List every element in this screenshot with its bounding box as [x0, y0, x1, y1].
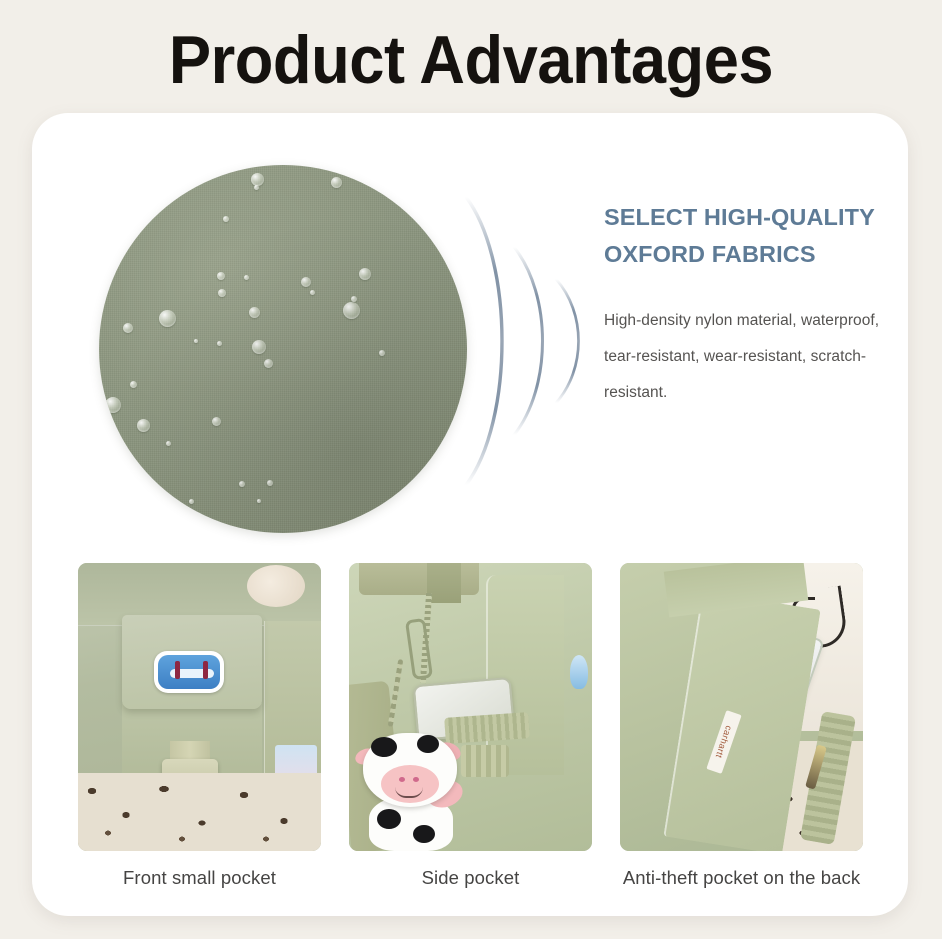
- product-photo-side-pocket[interactable]: [349, 563, 592, 851]
- photo-row: Front small pocket: [78, 563, 864, 889]
- water-droplet: [105, 397, 121, 413]
- webbing-loop: [461, 745, 509, 777]
- cow-spot: [377, 809, 401, 829]
- photo-caption: Side pocket: [349, 867, 592, 889]
- pin-wheel: [175, 661, 180, 679]
- water-droplet: [123, 323, 133, 333]
- water-droplet: [217, 341, 222, 346]
- skateboard-pin-icon: [154, 651, 224, 693]
- water-droplet: [252, 340, 266, 354]
- water-droplet: [267, 480, 273, 486]
- water-droplet: [249, 307, 260, 318]
- water-droplet: [251, 173, 264, 186]
- product-photo-anti-theft-pocket[interactable]: carhartt: [620, 563, 863, 851]
- water-droplet: [194, 339, 198, 343]
- photo-cell-side-pocket: Side pocket: [349, 563, 592, 889]
- water-droplet: [361, 169, 370, 178]
- water-droplet: [166, 441, 171, 446]
- hero-section: SELECT HIGH-QUALITY OXFORD FABRICS High-…: [32, 113, 908, 553]
- hero-body-copy: High-density nylon material, waterproof,…: [604, 303, 882, 411]
- page-title: Product Advantages: [33, 14, 909, 106]
- cow-spot: [371, 737, 397, 757]
- water-droplet: [137, 419, 150, 432]
- water-droplet: [244, 275, 249, 280]
- cow-spot: [413, 825, 435, 843]
- product-photo-front-small-pocket[interactable]: [78, 563, 321, 851]
- fabric-swatch-circle-image: [99, 165, 467, 533]
- pin-wheel: [203, 661, 208, 679]
- water-droplet: [217, 272, 225, 280]
- water-droplet: [359, 268, 371, 280]
- hero-text-block: SELECT HIGH-QUALITY OXFORD FABRICS High-…: [604, 199, 882, 411]
- photo-caption: Front small pocket: [78, 867, 321, 889]
- cow-nostril: [399, 777, 405, 782]
- water-droplet: [379, 350, 385, 356]
- water-droplet: [254, 185, 259, 190]
- photo-cell-anti-theft-pocket: carhartt Anti-theft pocket on the back: [620, 563, 863, 889]
- cow-nostril: [413, 777, 419, 782]
- photo-cell-front-small-pocket: Front small pocket: [78, 563, 321, 889]
- photo-caption: Anti-theft pocket on the back: [620, 867, 863, 889]
- water-droplet: [301, 277, 311, 287]
- water-droplet: [343, 302, 360, 319]
- water-droplet: [331, 177, 342, 188]
- water-droplet: [159, 310, 176, 327]
- water-droplet: [310, 290, 315, 295]
- cow-spot: [417, 735, 439, 753]
- content-card: SELECT HIGH-QUALITY OXFORD FABRICS High-…: [32, 113, 908, 916]
- leopard-print-surface: [78, 773, 321, 851]
- water-droplet: [257, 499, 261, 503]
- water-droplet: [223, 216, 229, 222]
- water-droplet: [264, 359, 273, 368]
- blue-badge-icon: [570, 655, 588, 689]
- water-droplet: [212, 417, 221, 426]
- top-strap-loop: [427, 563, 461, 603]
- water-droplet: [239, 481, 245, 487]
- radiating-arcs-icon: [456, 191, 596, 491]
- water-droplet: [218, 289, 226, 297]
- top-strap: [359, 563, 479, 595]
- hero-headline: SELECT HIGH-QUALITY OXFORD FABRICS: [604, 199, 882, 273]
- plush-charm: [247, 565, 305, 607]
- water-droplet: [189, 499, 194, 504]
- water-droplet: [130, 381, 137, 388]
- pin-inner: [158, 655, 220, 689]
- cow-plush-keychain-icon: [355, 721, 467, 851]
- water-droplet: [351, 296, 357, 302]
